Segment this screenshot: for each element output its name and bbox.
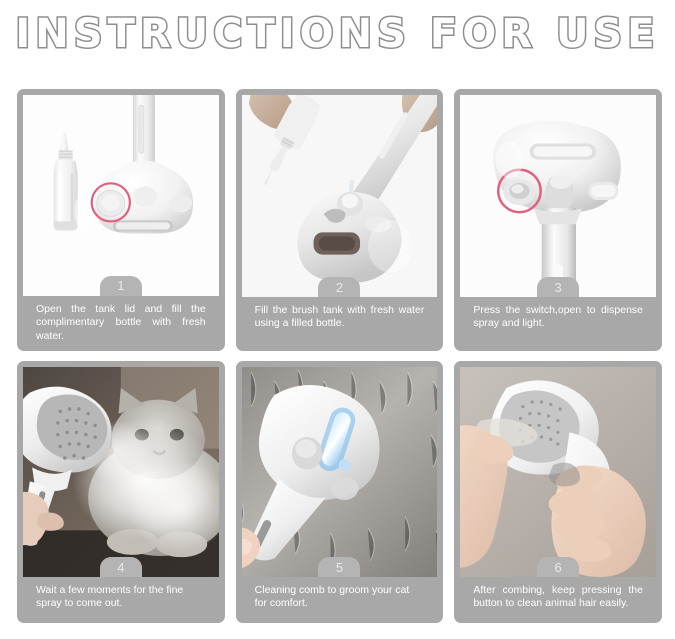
step-photo-4: 4 — [23, 367, 219, 577]
step-caption-3: Press the switch,open to dispense spray … — [460, 297, 656, 351]
step-panel-2: 2 Fill the brush tank with fresh water u… — [236, 89, 444, 351]
step-caption-4: Wait a few moments for the fine spray to… — [23, 577, 219, 623]
step-panel-5: 5 Cleaning comb to groom your cat for co… — [236, 361, 444, 623]
step-badge-2: 2 — [318, 277, 360, 297]
step-badge-4: 4 — [100, 557, 142, 577]
step-caption-5: Cleaning comb to groom your cat for comf… — [242, 577, 438, 623]
step-badge-3: 3 — [537, 277, 579, 297]
step-badge-5: 5 — [318, 557, 360, 577]
steps-grid: 1 Open the tank lid and fill the complim… — [17, 89, 662, 623]
illustration-spraying-cat — [23, 367, 219, 577]
step-panel-3: 3 Press the switch,open to dispense spra… — [454, 89, 662, 351]
illustration-grooming-fur — [242, 367, 438, 577]
step-photo-6: 6 — [460, 367, 656, 577]
step-panel-6: 6 After combing, keep pressing the butto… — [454, 361, 662, 623]
illustration-press-switch — [460, 95, 656, 297]
page-title-text: INSTRUCTIONS FOR USE — [15, 14, 659, 54]
illustration-bottle-and-device-base — [23, 95, 219, 296]
step-photo-2: 2 — [242, 95, 438, 297]
illustration-pouring-water — [242, 95, 438, 297]
step-caption-1: Open the tank lid and fill the complimen… — [23, 296, 219, 351]
step-badge-6: 6 — [537, 557, 579, 577]
step-badge-1: 1 — [100, 276, 142, 296]
step-panel-4: 4 Wait a few moments for the fine spray … — [17, 361, 225, 623]
page-title: INSTRUCTIONS FOR USE — [0, 8, 675, 60]
step-photo-3: 3 — [460, 95, 656, 297]
step-caption-2: Fill the brush tank with fresh water usi… — [242, 297, 438, 351]
step-caption-6: After combing, keep pressing the button … — [460, 577, 656, 623]
step-photo-5: 5 — [242, 367, 438, 577]
step-photo-1: 1 — [23, 95, 219, 296]
step-panel-1: 1 Open the tank lid and fill the complim… — [17, 89, 225, 351]
illustration-cleaning-hair — [460, 367, 656, 577]
instruction-sheet: INSTRUCTIONS FOR USE — [0, 0, 675, 639]
